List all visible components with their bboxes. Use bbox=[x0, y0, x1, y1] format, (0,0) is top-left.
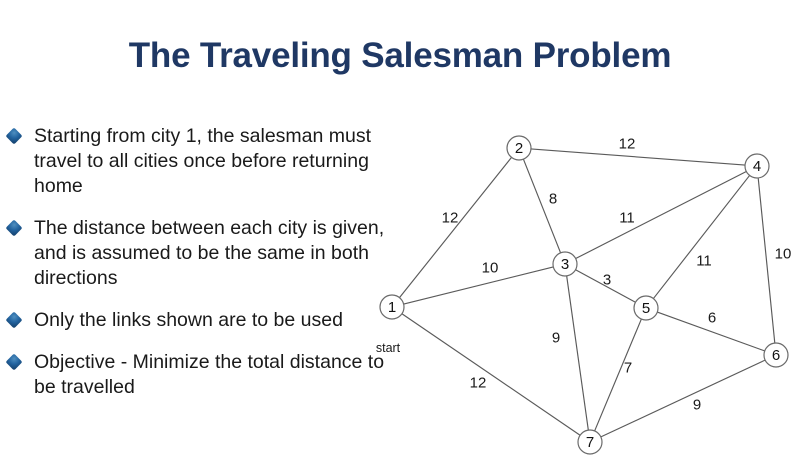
graph-node-6: 6 bbox=[764, 343, 788, 367]
graph-node-4: 4 bbox=[745, 154, 769, 178]
graph-edge-2-4 bbox=[531, 149, 745, 165]
edge-weight-label-1-3: 10 bbox=[482, 260, 499, 277]
bullet-text: Starting from city 1, the salesman must … bbox=[34, 124, 400, 199]
node-label-1: 1 bbox=[388, 299, 396, 316]
list-item: Starting from city 1, the salesman must … bbox=[8, 124, 400, 199]
graph-node-1: 1 bbox=[380, 295, 404, 319]
edge-weight-label-4-6: 10 bbox=[775, 246, 792, 263]
edge-weight-label-3-4: 11 bbox=[619, 210, 635, 227]
node-label-4: 4 bbox=[753, 158, 761, 175]
edge-weight-label-5-6: 6 bbox=[708, 310, 716, 327]
edge-weight-label-5-7: 7 bbox=[624, 360, 632, 377]
edge-weight-label-3-7: 9 bbox=[552, 330, 560, 347]
edge-weight-label-1-7: 12 bbox=[470, 375, 487, 392]
graph-edge-4-6 bbox=[758, 178, 775, 343]
blue-diamond-bullet-icon bbox=[6, 128, 23, 145]
node-label-3: 3 bbox=[561, 256, 569, 273]
edge-weight-label-2-4: 12 bbox=[619, 136, 636, 153]
bullet-list: Starting from city 1, the salesman must … bbox=[8, 124, 400, 417]
graph-node-7: 7 bbox=[578, 430, 602, 454]
list-item: The distance between each city is given,… bbox=[8, 216, 400, 291]
graph-svg: 12101281211391110679 1234567 start bbox=[356, 118, 800, 473]
list-item: Only the links shown are to be used bbox=[8, 308, 400, 333]
graph-node-5: 5 bbox=[634, 296, 658, 320]
slide-canvas: The Traveling Salesman Problem Starting … bbox=[0, 0, 800, 473]
edge-layer bbox=[399, 149, 774, 437]
graph-edge-5-7 bbox=[595, 319, 642, 431]
edge-weight-label-3-5: 3 bbox=[603, 272, 611, 289]
bullet-text: Only the links shown are to be used bbox=[34, 308, 400, 333]
edge-weight-label-6-7: 9 bbox=[693, 397, 701, 414]
graph-node-2: 2 bbox=[507, 136, 531, 160]
annotation-layer: start bbox=[376, 341, 401, 355]
graph-node-3: 3 bbox=[553, 252, 577, 276]
start-annotation-label: start bbox=[376, 341, 401, 355]
edge-weight-label-4-5: 11 bbox=[696, 253, 712, 270]
list-item: Objective - Minimize the total distance … bbox=[8, 350, 400, 400]
node-label-6: 6 bbox=[772, 347, 780, 364]
blue-diamond-bullet-icon bbox=[6, 354, 23, 371]
node-label-2: 2 bbox=[515, 140, 523, 157]
blue-diamond-bullet-icon bbox=[6, 312, 23, 329]
blue-diamond-bullet-icon bbox=[6, 220, 23, 237]
bullet-text: Objective - Minimize the total distance … bbox=[34, 350, 400, 400]
graph-edge-3-4 bbox=[576, 171, 747, 258]
graph-edge-3-7 bbox=[567, 276, 589, 430]
graph-diagram: 12101281211391110679 1234567 start bbox=[356, 118, 800, 473]
edge-weight-label-2-3: 8 bbox=[549, 191, 557, 208]
edge-weight-label-1-2: 12 bbox=[442, 210, 459, 227]
graph-edge-1-2 bbox=[399, 157, 511, 297]
node-label-5: 5 bbox=[642, 300, 650, 317]
page-title: The Traveling Salesman Problem bbox=[0, 36, 800, 76]
bullet-text: The distance between each city is given,… bbox=[34, 216, 400, 291]
graph-edge-1-3 bbox=[404, 267, 554, 304]
node-label-7: 7 bbox=[586, 434, 594, 451]
